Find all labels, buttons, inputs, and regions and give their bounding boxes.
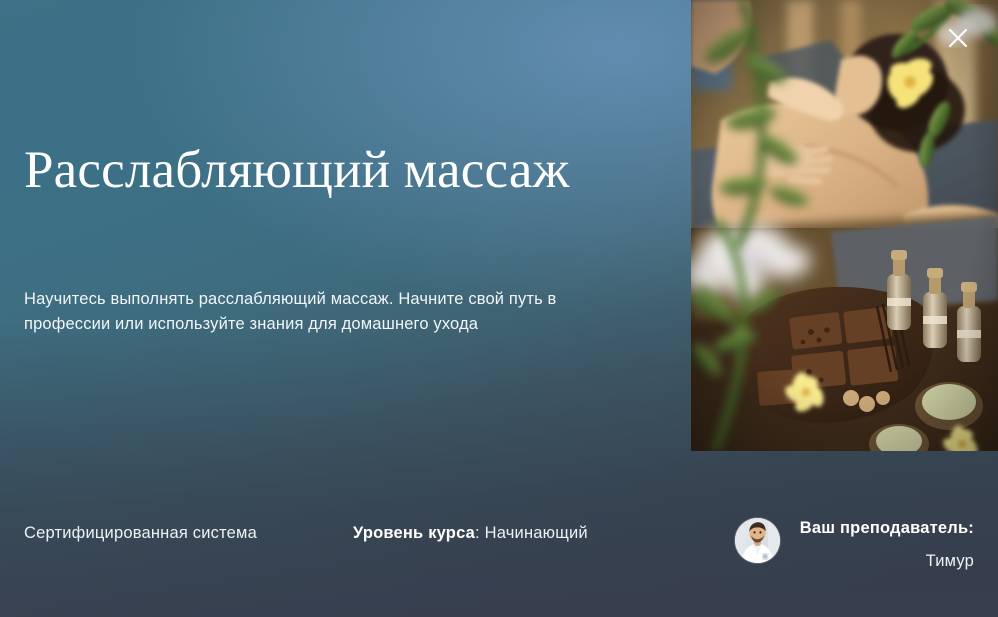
- massage-photo: [691, 0, 998, 451]
- course-promo-card: Расслабляющий массаж Научитесь выполнять…: [0, 0, 998, 617]
- close-button[interactable]: [941, 21, 975, 55]
- course-subtitle: Научитесь выполнять расслабляющий массаж…: [24, 287, 624, 337]
- instructor-text: Ваш преподаватель: Тимур: [800, 510, 974, 573]
- course-level-separator: :: [475, 524, 485, 542]
- avatar: [735, 518, 780, 563]
- avatar-photo: [735, 518, 780, 563]
- close-icon: [947, 27, 969, 49]
- course-level-value: Начинающий: [485, 524, 588, 542]
- instructor-block: Ваш преподаватель: Тимур: [735, 510, 974, 573]
- page-title: Расслабляющий массаж: [24, 141, 644, 200]
- instructor-label: Ваш преподаватель:: [800, 516, 974, 540]
- course-hero-photo: [691, 0, 998, 451]
- certification-label: Сертифицированная система: [24, 524, 257, 543]
- instructor-name: Тимур: [800, 549, 974, 573]
- course-level: Уровень курса: Начинающий: [353, 524, 588, 543]
- course-level-key: Уровень курса: [353, 524, 475, 542]
- course-meta-bar: Сертифицированная система Уровень курса:…: [0, 492, 998, 617]
